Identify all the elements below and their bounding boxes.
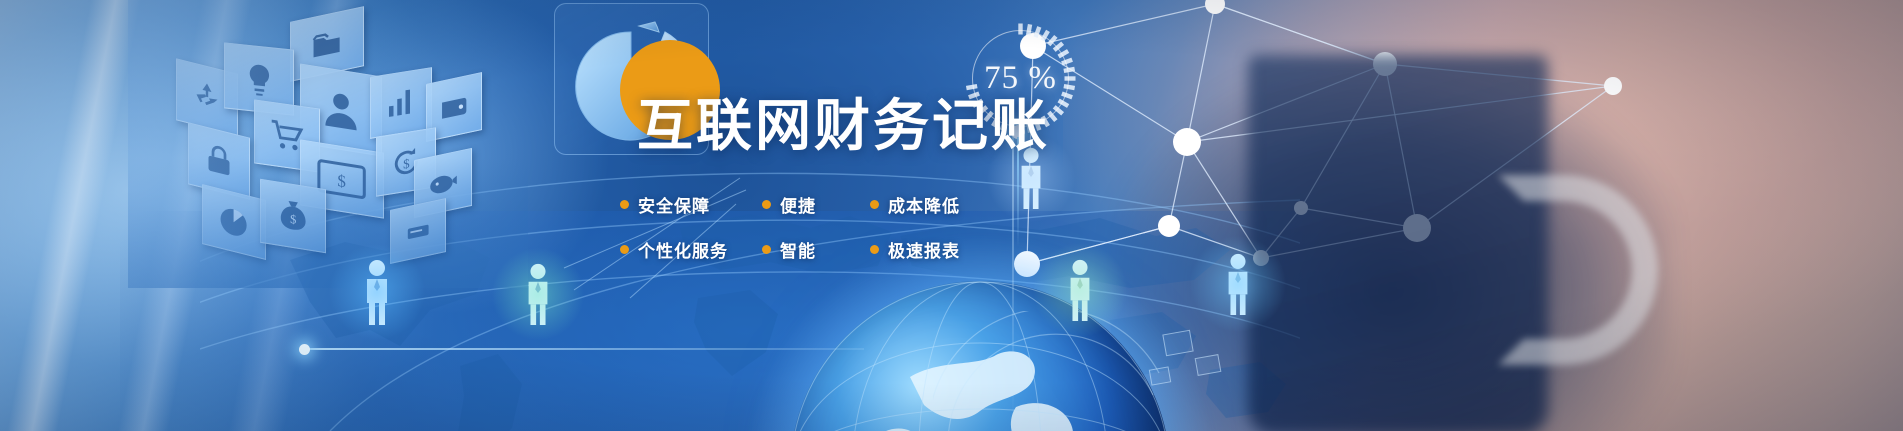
feature-item-5: 智能 xyxy=(762,237,870,262)
bullet-dot-icon xyxy=(620,245,629,254)
feature-item-6: 极速报表 xyxy=(870,237,960,262)
coffee-mug-photo xyxy=(1248,55,1678,431)
feature-label: 极速报表 xyxy=(888,237,960,262)
hud-rect-3 xyxy=(1149,366,1171,385)
bullet-dot-icon xyxy=(870,200,879,209)
cube-fade-overlay xyxy=(128,0,528,288)
feature-item-3: 成本降低 xyxy=(870,192,960,217)
feature-label: 智能 xyxy=(780,237,816,262)
bullet-dot-icon xyxy=(620,200,629,209)
icon-cube-graphic: $ $ $ xyxy=(168,8,488,278)
rail-line xyxy=(1012,120,1014,420)
hud-arc xyxy=(933,311,1163,431)
feature-label: 个性化服务 xyxy=(638,237,728,262)
feature-list: 安全保障 便捷 成本降低 个性化服务 智能 极速报表 xyxy=(620,182,960,272)
mug-handle xyxy=(1498,175,1658,365)
feature-item-2: 便捷 xyxy=(762,192,870,217)
bullet-dot-icon xyxy=(762,200,771,209)
person-figure-icon xyxy=(522,262,554,326)
bottom-rail-right xyxy=(1012,120,1014,420)
person-figure-icon xyxy=(1064,258,1096,322)
marketing-banner: $ $ $ xyxy=(0,0,1903,431)
person-figure-icon xyxy=(360,258,394,326)
rail-line xyxy=(304,348,864,350)
bottom-rail-left xyxy=(304,348,864,350)
person-figure-icon xyxy=(1222,252,1254,316)
feature-label: 成本降低 xyxy=(888,192,960,217)
bullet-dot-icon xyxy=(870,245,879,254)
page-title: 互联网财务记账 xyxy=(637,98,1050,154)
bullet-dot-icon xyxy=(762,245,771,254)
feature-item-4: 个性化服务 xyxy=(620,237,762,262)
feature-label: 安全保障 xyxy=(638,192,710,217)
rail-knob xyxy=(299,344,310,355)
feature-item-1: 安全保障 xyxy=(620,192,762,217)
feature-label: 便捷 xyxy=(780,192,816,217)
